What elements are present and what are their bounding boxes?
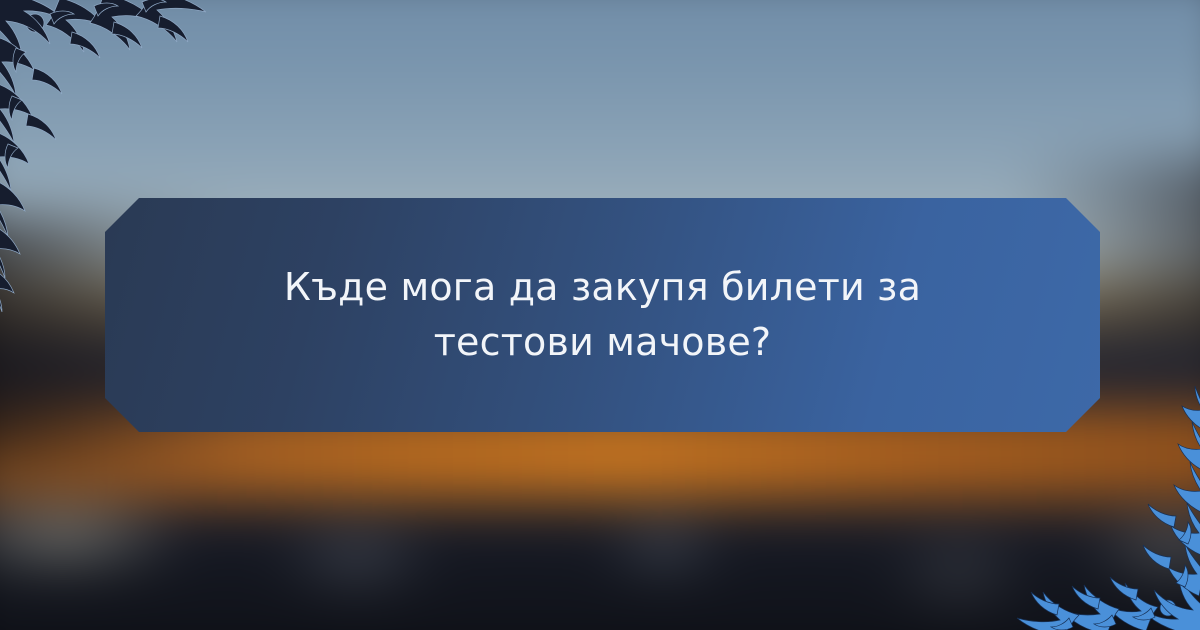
quote-text: Къде мога да закупя билети за тестови ма… [193, 260, 1013, 370]
quote-card-image: Къде мога да закупя билети за тестови ма… [0, 0, 1200, 630]
crowd-region [0, 500, 1200, 630]
quote-card: Къде мога да закупя билети за тестови ма… [105, 198, 1100, 432]
